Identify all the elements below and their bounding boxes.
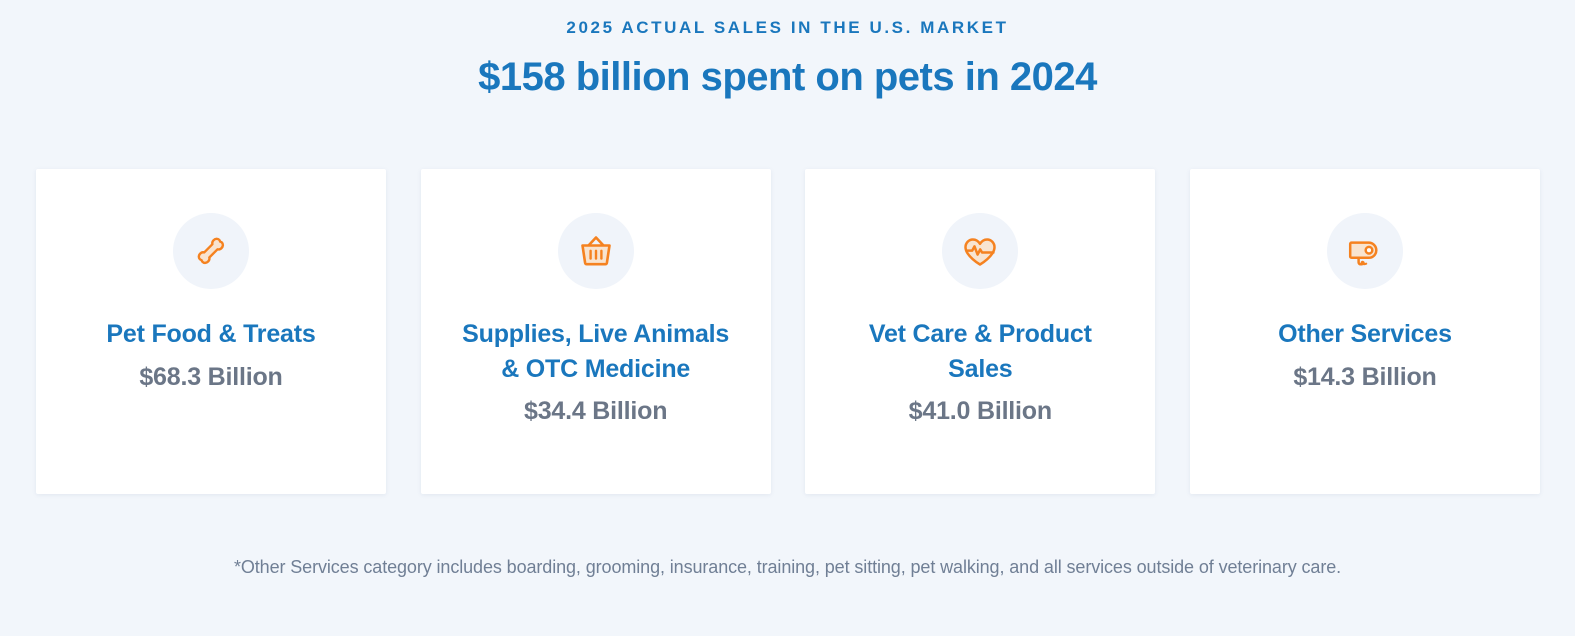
stat-card-pet-food-treats: Pet Food & Treats $68.3 Billion [36,169,386,494]
bone-icon [189,229,233,273]
stat-card-title: Other Services [1190,317,1540,352]
page-title: $158 billion spent on pets in 2024 [0,54,1575,100]
eyebrow-label: 2025 ACTUAL SALES IN THE U.S. MARKET [0,18,1575,38]
stat-card-title-line-1: Supplies, Live Animals [462,320,729,348]
stat-card-vet-care-product-sales: Vet Care & Product Sales $41.0 Billion [805,169,1155,494]
stat-card-row: Pet Food & Treats $68.3 Billion Supplies… [36,169,1540,494]
stat-card-title-line-2: Sales [948,355,1012,383]
icon-badge [1327,213,1403,289]
hair-dryer-icon [1343,229,1387,273]
stat-card-title: Vet Care & Product Sales [805,317,1155,386]
icon-badge [558,213,634,289]
header: 2025 ACTUAL SALES IN THE U.S. MARKET $15… [0,0,1575,100]
stat-card-amount: $14.3 Billion [1190,360,1540,395]
stat-card-title: Pet Food & Treats [36,317,386,352]
pet-spending-infographic: 2025 ACTUAL SALES IN THE U.S. MARKET $15… [0,0,1575,636]
stat-card-other-services: Other Services $14.3 Billion [1190,169,1540,494]
stat-card-amount: $34.4 Billion [421,394,771,429]
stat-card-title-line-2: & OTC Medicine [501,355,690,383]
icon-badge [942,213,1018,289]
shopping-basket-icon [574,229,618,273]
stat-card-title: Supplies, Live Animals & OTC Medicine [421,317,771,386]
stat-card-supplies-live-animals-otc-medicine: Supplies, Live Animals & OTC Medicine $3… [421,169,771,494]
stat-card-amount: $41.0 Billion [805,394,1155,429]
footnote-text: *Other Services category includes boardi… [0,556,1575,579]
stat-card-amount: $68.3 Billion [36,360,386,395]
stat-card-title-line-1: Vet Care & Product [869,320,1092,348]
icon-badge [173,213,249,289]
heart-pulse-icon [958,229,1002,273]
